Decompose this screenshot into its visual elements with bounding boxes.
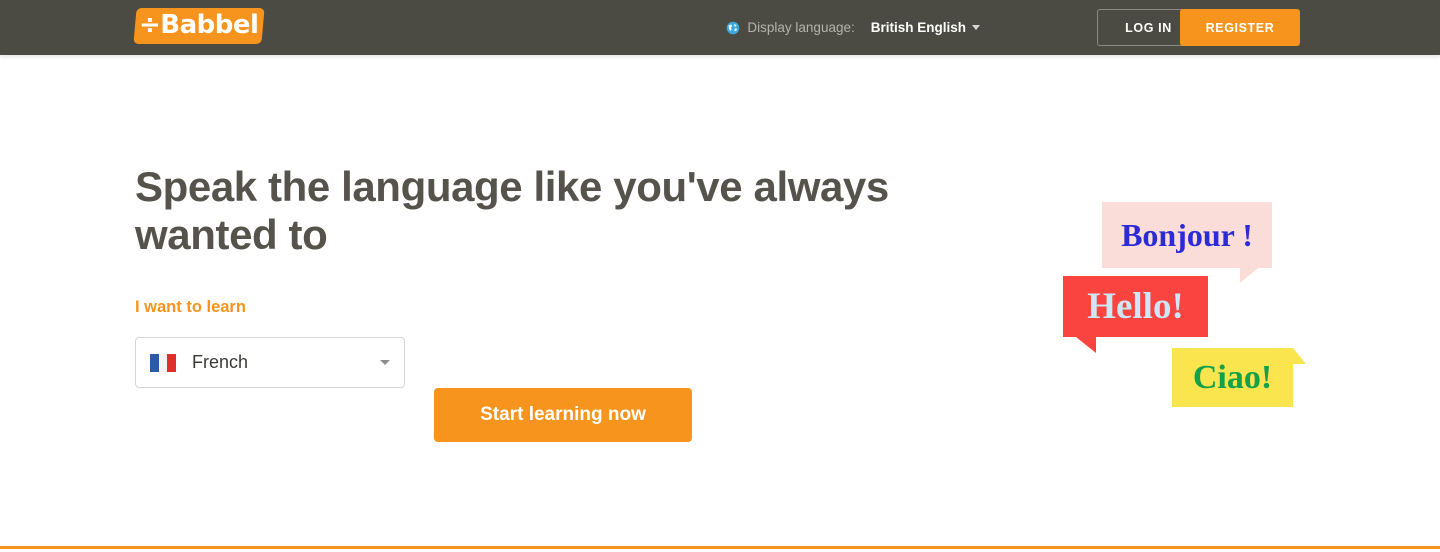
speech-bubble-hello: Hello! [1063, 276, 1208, 337]
page-title: Speak the language like you've always wa… [135, 163, 975, 259]
display-language-value: British English [871, 20, 966, 35]
display-language-label: Display language: [747, 20, 854, 35]
bubble-tail [1240, 268, 1258, 283]
speech-bubble-text: Ciao! [1193, 359, 1272, 397]
register-button[interactable]: REGISTER [1180, 9, 1300, 46]
display-language-selector[interactable]: British English [871, 20, 980, 35]
learn-language-select[interactable]: French [135, 337, 405, 388]
speech-bubble-text: Bonjour ! [1121, 217, 1253, 254]
page-root: ÷Babbel Display language: British Englis… [0, 0, 1440, 552]
learn-language-label: I want to learn [135, 298, 246, 317]
flag-france-icon [150, 354, 176, 372]
speech-bubbles-illustration: Bonjour ! Hello! Ciao! [1050, 190, 1320, 430]
speech-bubble-bonjour: Bonjour ! [1102, 202, 1272, 268]
site-header: ÷Babbel Display language: British Englis… [0, 0, 1440, 55]
start-learning-button[interactable]: Start learning now [434, 388, 692, 442]
babbel-logo[interactable]: ÷Babbel [133, 8, 264, 44]
speech-bubble-text: Hello! [1087, 285, 1184, 328]
bubble-tail [1076, 337, 1096, 353]
globe-icon [726, 21, 740, 35]
chevron-down-icon [380, 360, 390, 365]
footer-divider [0, 546, 1440, 549]
learn-language-value: French [192, 352, 380, 373]
logo-text: ÷Babbel [139, 12, 258, 40]
hero-section: Speak the language like you've always wa… [0, 55, 1440, 548]
speech-bubble-ciao: Ciao! [1172, 348, 1293, 407]
display-language-group: Display language: British English [726, 0, 980, 55]
chevron-down-icon [972, 25, 980, 30]
bubble-tail [1293, 348, 1306, 364]
